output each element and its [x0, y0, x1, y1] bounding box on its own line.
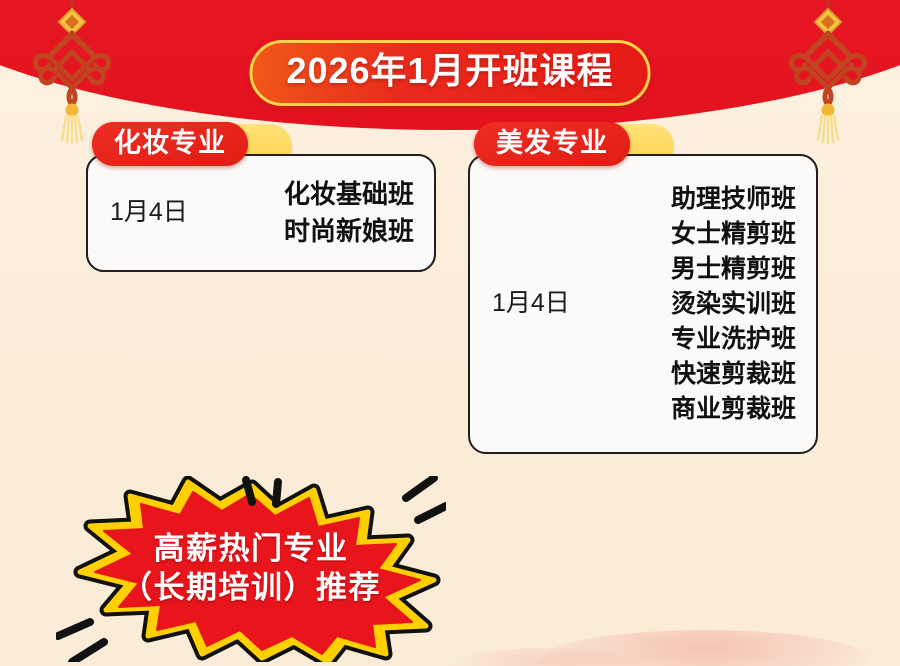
starburst-shape-icon [56, 476, 446, 662]
course-column-2: 化妆基础班 时尚新娘班 [236, 176, 416, 250]
course-3-1: 女士精剪班 [618, 217, 796, 252]
card-label-text-2: 化妆专业 [114, 128, 226, 158]
page-title: 2026年1月开班课程 [286, 52, 613, 91]
course-3-3: 烫染实训班 [618, 287, 796, 322]
chinese-knot-icon-right [780, 0, 876, 145]
date-column-3: 1月4日 [486, 286, 618, 322]
promo-poster: 2026年1月开班课程 美容专业 1月4日 1月12日 美容基础班 皮肤管理班 [0, 0, 900, 666]
poster-title-banner: 2026年1月开班课程 [249, 40, 650, 106]
course-2-1: 时尚新娘班 [236, 213, 414, 250]
card-label-2: 化妆专业 [92, 122, 248, 166]
course-3-5: 快速剪裁班 [618, 357, 796, 392]
course-3-4: 专业洗护班 [618, 322, 796, 357]
card-body-3: 1月4日 助理技师班 女士精剪班 男士精剪班 烫染实训班 专业洗护班 快速剪裁班… [468, 154, 818, 454]
course-2-0: 化妆基础班 [236, 176, 414, 213]
course-3-0: 助理技师班 [618, 182, 796, 217]
burst-badge: 高薪热门专业 （长期培训）推荐 [56, 476, 446, 662]
course-3-2: 男士精剪班 [618, 252, 796, 287]
course-3-6: 商业剪裁班 [618, 392, 796, 427]
card-label-3: 美发专业 [474, 122, 630, 166]
date-3-0: 1月4日 [492, 286, 618, 322]
course-column-3: 助理技师班 女士精剪班 男士精剪班 烫染实训班 专业洗护班 快速剪裁班 商业剪裁… [618, 182, 798, 427]
date-2-0: 1月4日 [110, 195, 236, 231]
date-column-2: 1月4日 [104, 195, 236, 231]
card-body-2: 1月4日 化妆基础班 时尚新娘班 [86, 154, 436, 272]
card-label-text-3: 美发专业 [496, 128, 608, 158]
